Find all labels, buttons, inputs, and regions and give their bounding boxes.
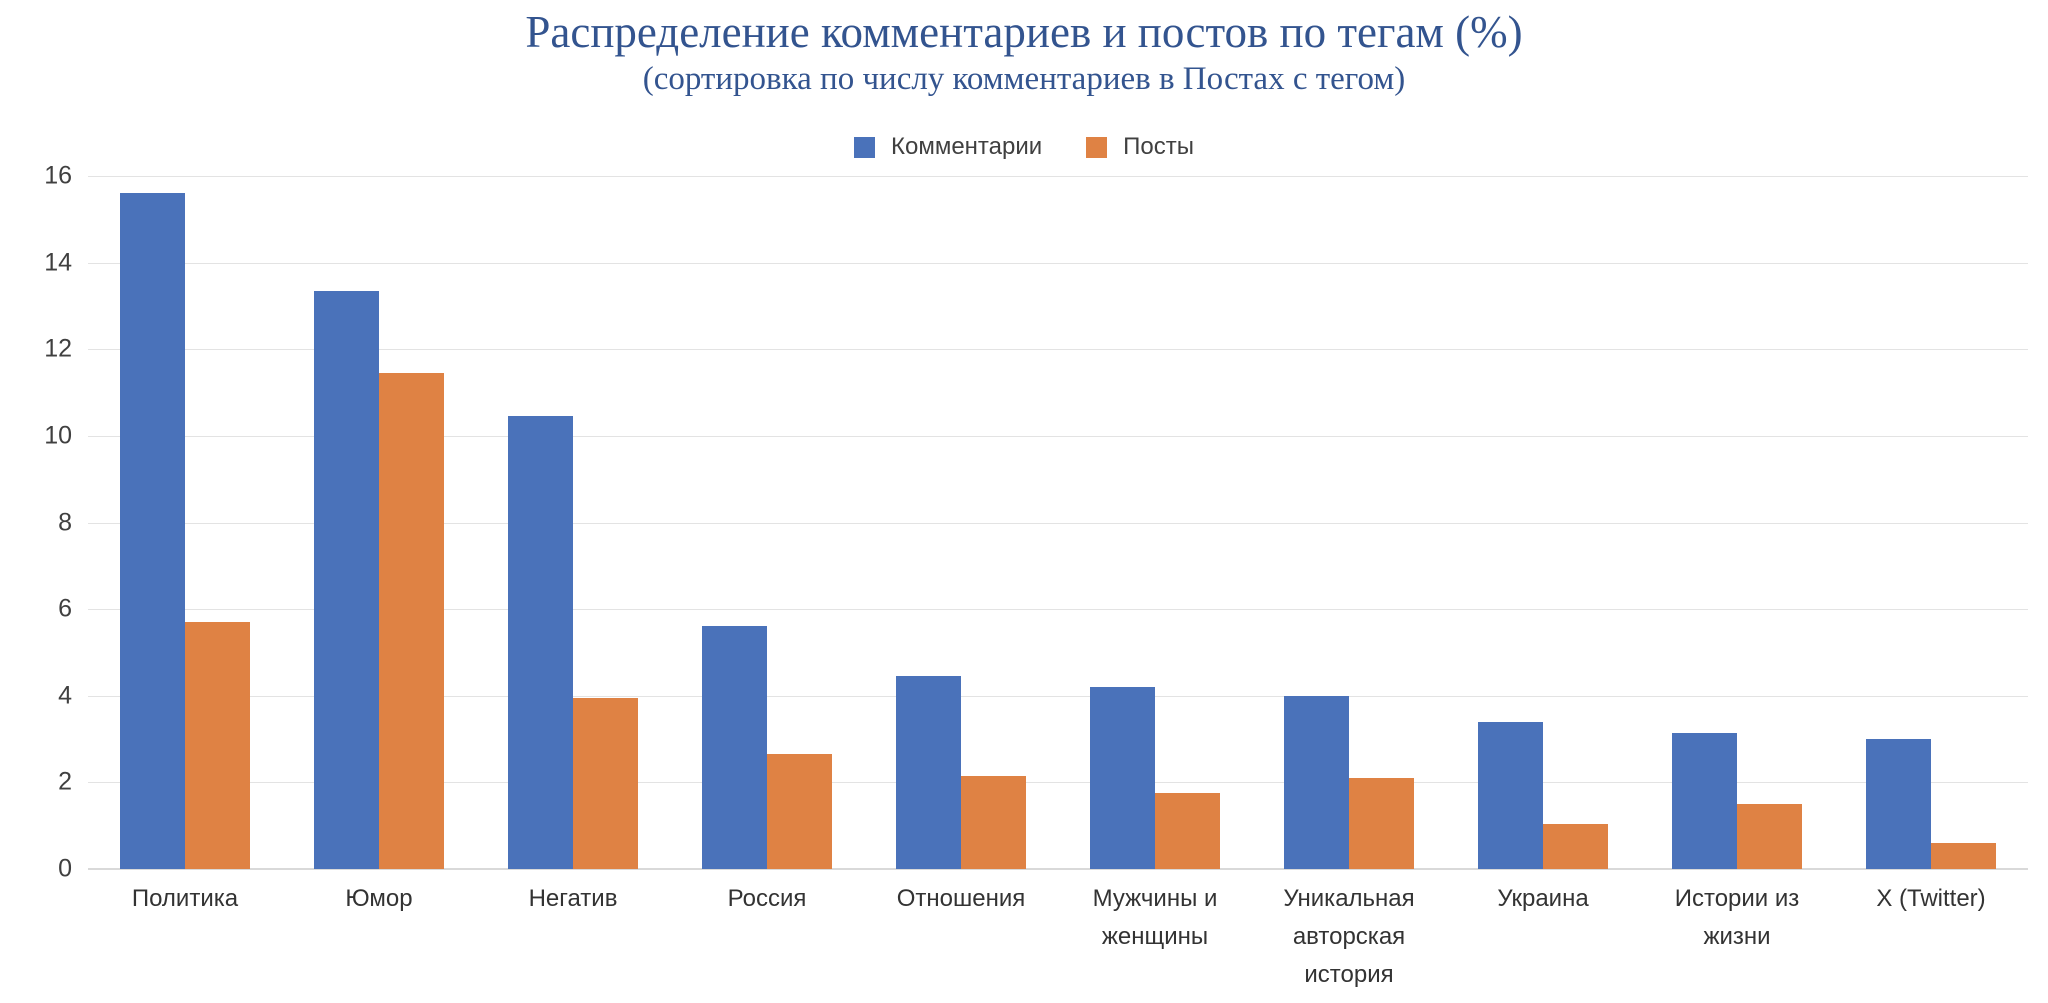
y-axis-tick-label: 6 [0, 595, 72, 624]
x-axis-category-label: Негатив [476, 880, 670, 994]
bar-group [670, 176, 864, 869]
y-axis-tick-label: 0 [0, 855, 72, 884]
x-axis-category-label: Россия [670, 880, 864, 994]
x-axis-category-label: Юмор [282, 880, 476, 994]
bar-group [1252, 176, 1446, 869]
bar-posts[interactable] [961, 776, 1026, 869]
bar-posts[interactable] [1155, 793, 1220, 869]
bar-comments[interactable] [120, 193, 185, 869]
x-axis-category-label: Отношения [864, 880, 1058, 994]
bar-group [282, 176, 476, 869]
bar-comments[interactable] [508, 416, 573, 869]
x-axis-category-label: Мужчины и женщины [1058, 880, 1252, 994]
bar-comments[interactable] [1284, 696, 1349, 869]
bar-posts[interactable] [1737, 804, 1802, 869]
x-axis-category-label: X (Twitter) [1834, 880, 2028, 994]
legend-swatch-posts-icon [1086, 137, 1107, 158]
bar-posts[interactable] [1543, 824, 1608, 869]
x-axis-category-label: Истории из жизни [1640, 880, 1834, 994]
bar-comments[interactable] [314, 291, 379, 869]
legend-swatch-comments-icon [854, 137, 875, 158]
y-axis-tick-label: 2 [0, 768, 72, 797]
bar-posts[interactable] [185, 622, 250, 869]
bar-group [1834, 176, 2028, 869]
bar-comments[interactable] [702, 626, 767, 869]
bar-group [1058, 176, 1252, 869]
bars-layer [88, 176, 2028, 869]
bar-posts[interactable] [1931, 843, 1996, 869]
y-axis-tick-label: 4 [0, 681, 72, 710]
y-axis-tick-labels: 1614121086420 [0, 176, 72, 869]
bar-chart: Распределение комментариев и постов по т… [0, 0, 2048, 1003]
x-axis-category-label: Политика [88, 880, 282, 994]
legend-item-posts[interactable]: Посты [1086, 133, 1194, 161]
bar-comments[interactable] [1478, 722, 1543, 869]
y-axis-tick-label: 10 [0, 421, 72, 450]
y-axis-tick-label: 16 [0, 162, 72, 191]
y-axis-tick-label: 14 [0, 248, 72, 277]
bar-comments[interactable] [1090, 687, 1155, 869]
legend-label-comments: Комментарии [891, 133, 1042, 161]
chart-legend: Комментарии Посты [0, 133, 2048, 161]
bar-group [1446, 176, 1640, 869]
title-block: Распределение комментариев и постов по т… [0, 6, 2048, 100]
bar-group [476, 176, 670, 869]
legend-item-comments[interactable]: Комментарии [854, 133, 1042, 161]
chart-subtitle: (сортировка по числу комментариев в Пост… [0, 58, 2048, 100]
bar-posts[interactable] [573, 698, 638, 869]
bar-posts[interactable] [379, 373, 444, 869]
bar-posts[interactable] [767, 754, 832, 869]
x-axis-category-label: Уникальная авторская история [1252, 880, 1446, 994]
bar-comments[interactable] [1672, 733, 1737, 869]
bar-group [88, 176, 282, 869]
y-axis-tick-label: 8 [0, 508, 72, 537]
y-axis-tick-label: 12 [0, 335, 72, 364]
legend-label-posts: Посты [1123, 133, 1194, 161]
page-title: Распределение комментариев и постов по т… [0, 6, 2048, 58]
bar-comments[interactable] [896, 676, 961, 869]
bar-group [864, 176, 1058, 869]
x-axis-category-labels: ПолитикаЮморНегативРоссияОтношенияМужчин… [88, 880, 2028, 994]
bar-comments[interactable] [1866, 739, 1931, 869]
bar-posts[interactable] [1349, 778, 1414, 869]
bar-group [1640, 176, 1834, 869]
x-axis-category-label: Украина [1446, 880, 1640, 994]
